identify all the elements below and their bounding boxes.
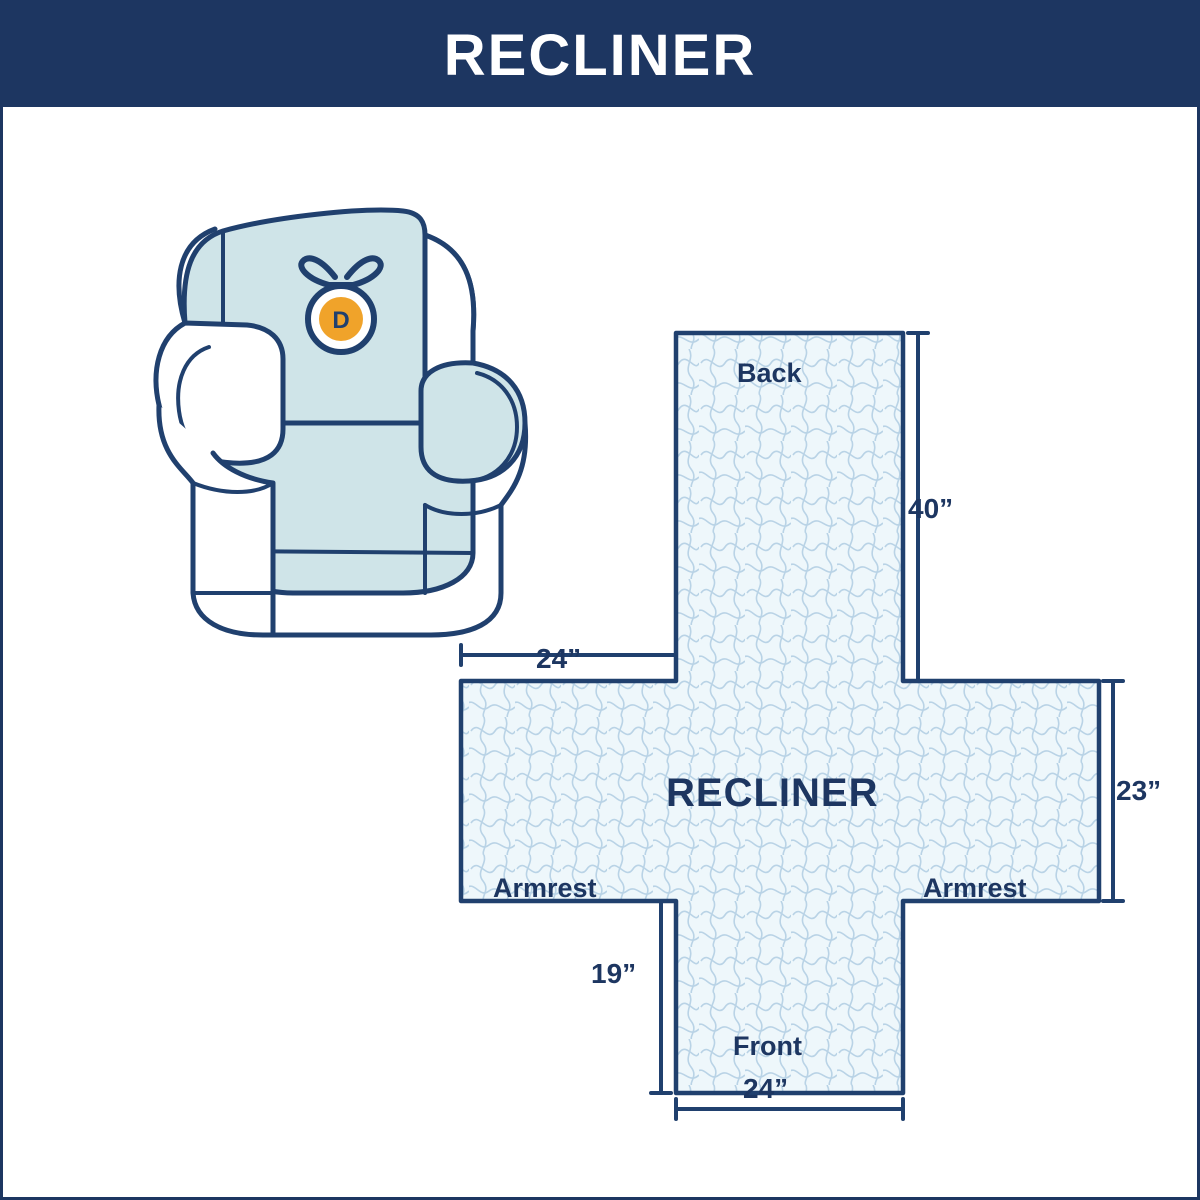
label-armrest-right: Armrest (923, 873, 1027, 904)
label-armrest-left: Armrest (493, 873, 597, 904)
dimension-front-width: 24” (743, 1073, 788, 1105)
label-back: Back (737, 358, 802, 389)
cover-outline (461, 333, 1099, 1093)
page-frame: RECLINER (0, 0, 1200, 1200)
label-front: Front (733, 1031, 802, 1062)
label-recliner-center: RECLINER (666, 771, 878, 816)
dimension-body-height: 23” (1116, 775, 1161, 807)
dimension-back-height: 40” (908, 493, 953, 525)
svg-text:D: D (332, 307, 349, 334)
recliner-cover-diagram: Back RECLINER Armrest Armrest Front 40” … (423, 303, 1183, 1133)
header-bar: RECLINER (3, 3, 1197, 107)
page-title: RECLINER (444, 22, 756, 89)
dimension-front-height: 19” (591, 958, 636, 990)
dimension-back-width: 24” (536, 643, 581, 675)
